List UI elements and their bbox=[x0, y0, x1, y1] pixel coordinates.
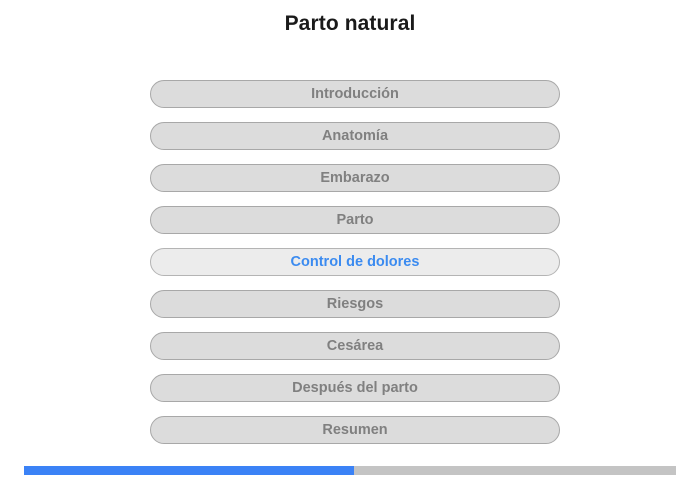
menu-item-5[interactable]: Riesgos bbox=[150, 290, 560, 318]
menu-item-1[interactable]: Anatomía bbox=[150, 122, 560, 150]
progress-bar-fill bbox=[24, 466, 354, 475]
menu-item-2[interactable]: Embarazo bbox=[150, 164, 560, 192]
progress-bar[interactable] bbox=[24, 466, 676, 475]
menu-item-0[interactable]: Introducción bbox=[150, 80, 560, 108]
menu-item-4[interactable]: Control de dolores bbox=[150, 248, 560, 276]
menu-item-7[interactable]: Después del parto bbox=[150, 374, 560, 402]
menu-item-3[interactable]: Parto bbox=[150, 206, 560, 234]
section-menu: IntroducciónAnatomíaEmbarazoPartoControl… bbox=[150, 80, 560, 444]
menu-item-6[interactable]: Cesárea bbox=[150, 332, 560, 360]
menu-item-8[interactable]: Resumen bbox=[150, 416, 560, 444]
app-page: Parto natural IntroducciónAnatomíaEmbara… bbox=[0, 0, 700, 480]
page-title: Parto natural bbox=[0, 10, 700, 38]
